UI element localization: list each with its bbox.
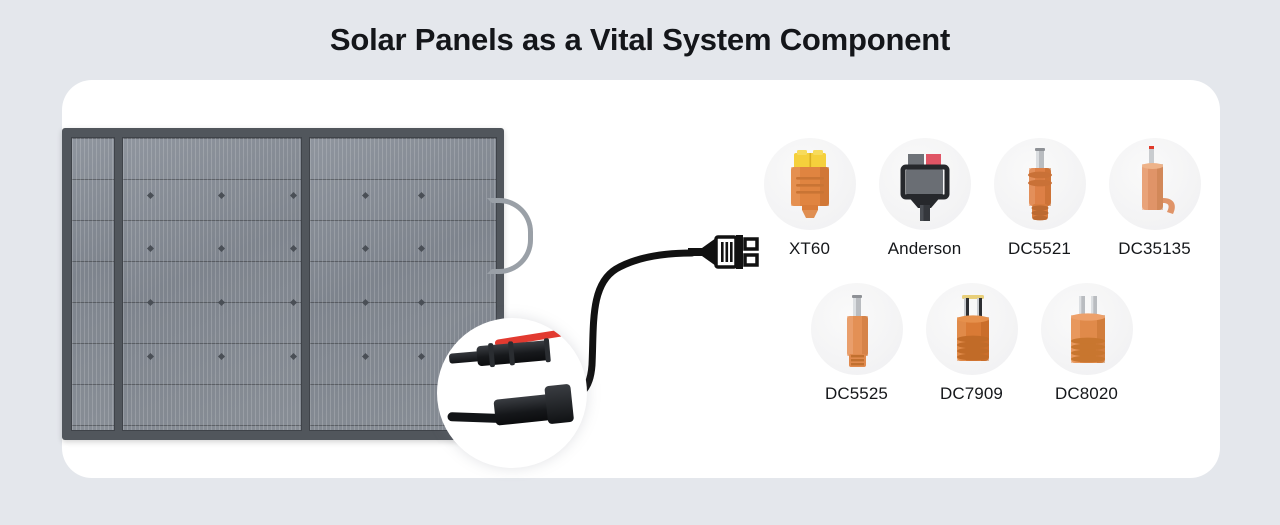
connector-disc <box>1109 138 1201 230</box>
dc35135-connector-icon <box>1109 138 1201 230</box>
connector-disc <box>1041 283 1133 375</box>
connector-disc <box>879 138 971 230</box>
mc4-female-connector <box>445 389 578 438</box>
connector-disc <box>926 283 1018 375</box>
dc5521-connector-icon <box>994 138 1086 230</box>
xt60-connector-icon <box>764 138 856 230</box>
connector-disc <box>764 138 856 230</box>
dc5525-connector-icon <box>811 283 903 375</box>
mc4-connector-closeup <box>437 318 587 468</box>
page-title: Solar Panels as a Vital System Component <box>0 20 1280 60</box>
connector-item-dc7909[interactable]: DC7909 <box>924 283 1019 404</box>
connector-row-2: DC5525 D <box>809 283 1134 404</box>
connector-label: DC7909 <box>940 384 1003 404</box>
connector-row-1: XT60 Anderson <box>762 138 1202 259</box>
panel-segment-1 <box>71 137 115 431</box>
connector-disc <box>811 283 903 375</box>
connector-label: DC8020 <box>1055 384 1118 404</box>
dc7909-connector-icon <box>926 283 1018 375</box>
connector-item-dc8020[interactable]: DC8020 <box>1039 283 1134 404</box>
connector-label: XT60 <box>789 239 830 259</box>
connector-label: Anderson <box>888 239 962 259</box>
connector-label: DC5525 <box>825 384 888 404</box>
mc4-ring <box>544 338 551 362</box>
mc4-male-connector <box>448 339 559 369</box>
dc8020-connector-icon <box>1041 283 1133 375</box>
connector-item-dc5521[interactable]: DC5521 <box>992 138 1087 259</box>
connector-item-dc5525[interactable]: DC5525 <box>809 283 904 404</box>
connector-item-dc35135[interactable]: DC35135 <box>1107 138 1202 259</box>
barrel-plug-icon <box>686 232 764 272</box>
mc4-socket-head <box>544 384 574 425</box>
connector-label: DC35135 <box>1118 239 1191 259</box>
connector-types-grid: XT60 Anderson <box>762 138 1214 438</box>
anderson-connector-icon <box>879 138 971 230</box>
connector-label: DC5521 <box>1008 239 1071 259</box>
panel-segment-2 <box>122 137 302 431</box>
connector-item-anderson[interactable]: Anderson <box>877 138 972 259</box>
connector-disc <box>994 138 1086 230</box>
connector-item-xt60[interactable]: XT60 <box>762 138 857 259</box>
